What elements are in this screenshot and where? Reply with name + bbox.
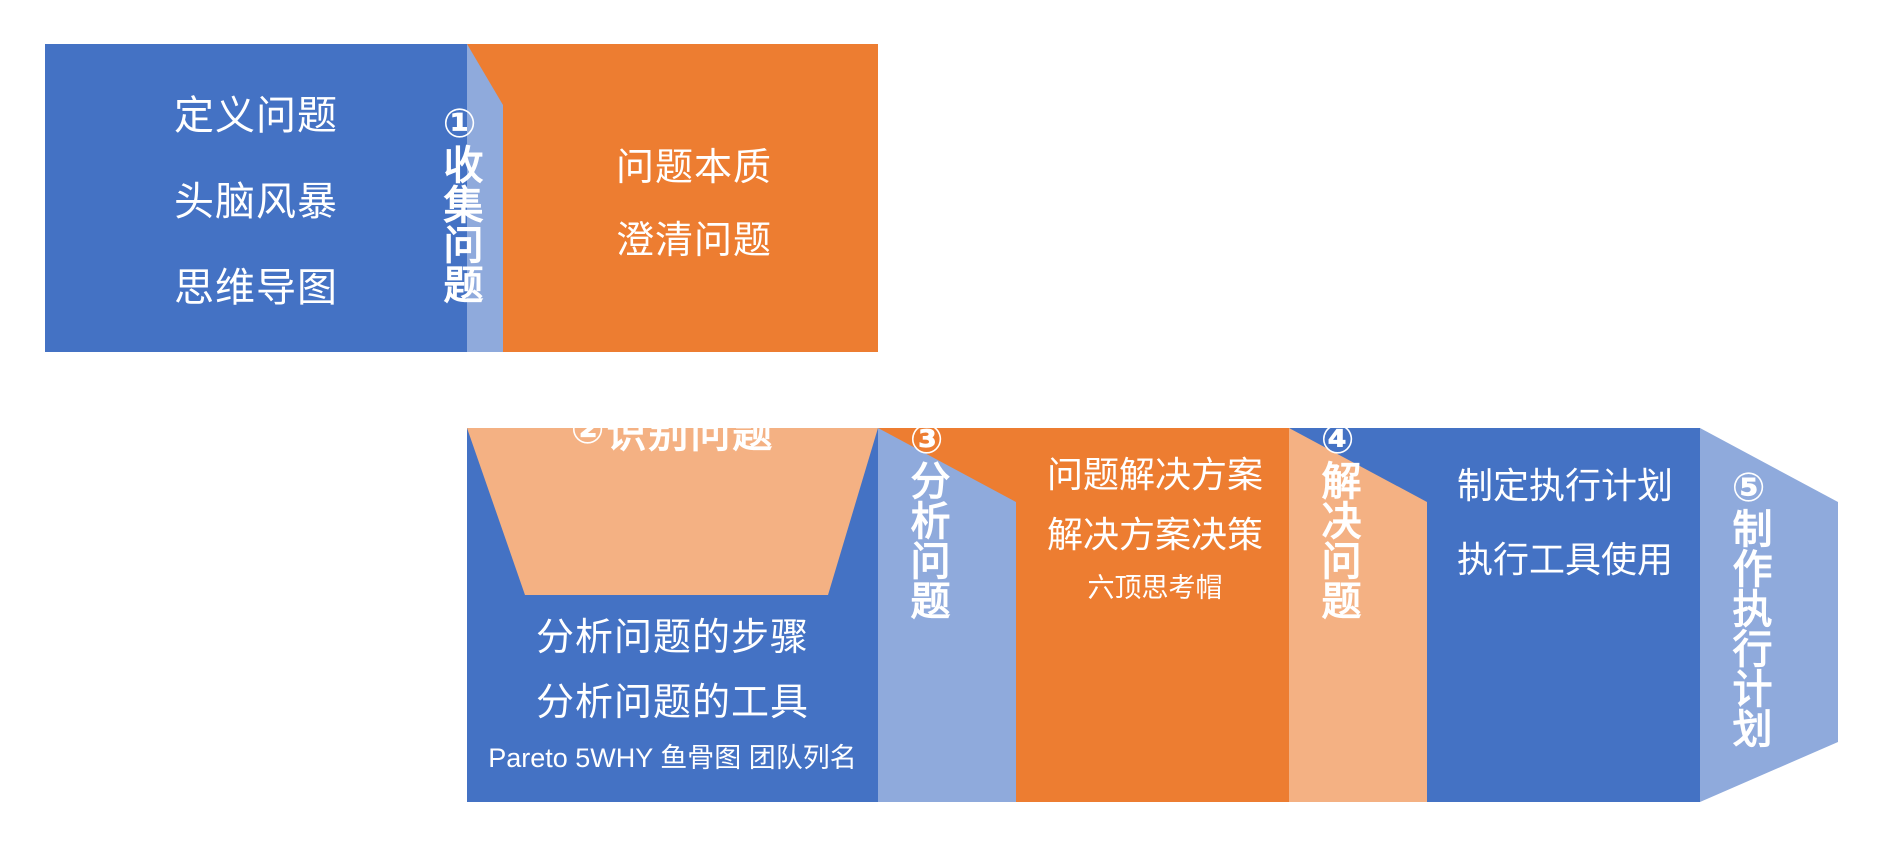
shape-chevron-5[interactable] [1700,428,1838,802]
process-flow-diagram: 定义问题 头脑风暴 思维导图 ① 收集问题 问题本质 澄清问题 ② 识别问题 分… [0,0,1897,864]
diagram-shapes [0,0,1897,864]
shape-panel-1[interactable] [467,44,878,352]
shape-chevron-2[interactable] [467,428,878,595]
shape-intro-block[interactable] [45,44,467,352]
